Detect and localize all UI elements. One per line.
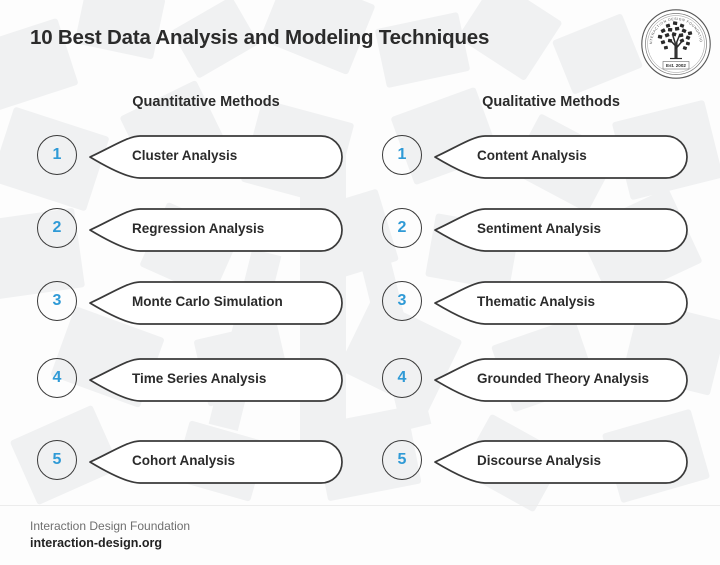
technique-bubble[interactable]: Content Analysis (433, 132, 689, 184)
item-number-badge: 4 (37, 358, 77, 398)
item-number-badge: 5 (37, 440, 77, 480)
footer: Interaction Design Foundation interactio… (30, 518, 190, 552)
technique-label: Content Analysis (477, 132, 587, 178)
technique-bubble[interactable]: Cluster Analysis (88, 132, 344, 184)
footer-organization: Interaction Design Foundation (30, 518, 190, 535)
technique-bubble[interactable]: Sentiment Analysis (433, 205, 689, 257)
technique-label: Grounded Theory Analysis (477, 355, 649, 401)
technique-label: Cluster Analysis (132, 132, 237, 178)
svg-text:Est. 2002: Est. 2002 (666, 63, 686, 68)
item-number-badge: 3 (382, 281, 422, 321)
footer-url[interactable]: interaction-design.org (30, 535, 190, 552)
footer-divider (0, 505, 720, 506)
technique-bubble[interactable]: Monte Carlo Simulation (88, 278, 344, 330)
item-number-badge: 1 (382, 135, 422, 175)
page-title: 10 Best Data Analysis and Modeling Techn… (30, 26, 489, 50)
technique-bubble[interactable]: Grounded Theory Analysis (433, 355, 689, 407)
item-number-badge: 1 (37, 135, 77, 175)
organization-logo: INTERACTION DESIGN FOUNDATION Est. 2002 (640, 8, 712, 80)
technique-bubble[interactable]: Time Series Analysis (88, 355, 344, 407)
technique-label: Time Series Analysis (132, 355, 266, 401)
technique-label: Discourse Analysis (477, 437, 601, 483)
seal-icon: INTERACTION DESIGN FOUNDATION Est. 2002 (640, 8, 712, 80)
item-number-badge: 2 (37, 208, 77, 248)
column-header-qualitative: Qualitative Methods (482, 94, 620, 110)
technique-bubble[interactable]: Cohort Analysis (88, 437, 344, 489)
item-number-badge: 2 (382, 208, 422, 248)
item-number-badge: 3 (37, 281, 77, 321)
item-number-badge: 4 (382, 358, 422, 398)
technique-bubble[interactable]: Thematic Analysis (433, 278, 689, 330)
technique-label: Cohort Analysis (132, 437, 235, 483)
item-number-badge: 5 (382, 440, 422, 480)
technique-bubble[interactable]: Discourse Analysis (433, 437, 689, 489)
technique-label: Regression Analysis (132, 205, 264, 251)
infographic-page: 10 Best Data Analysis and Modeling Techn… (0, 0, 720, 565)
technique-bubble[interactable]: Regression Analysis (88, 205, 344, 257)
technique-label: Monte Carlo Simulation (132, 278, 283, 324)
column-header-quantitative: Quantitative Methods (132, 94, 279, 110)
technique-label: Sentiment Analysis (477, 205, 601, 251)
technique-label: Thematic Analysis (477, 278, 595, 324)
